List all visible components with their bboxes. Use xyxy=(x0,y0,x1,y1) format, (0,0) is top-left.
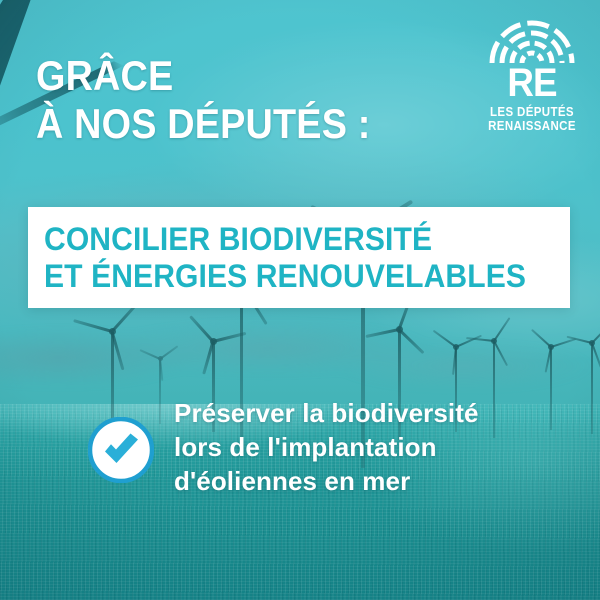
renaissance-arcs-icon xyxy=(486,18,578,64)
poster: GRÂCE À NOS DÉPUTÉS : RE LES DÉPUTÉS REN… xyxy=(0,0,600,600)
banner-title: CONCILIER BIODIVERSITÉ ET ÉNERGIES RENOU… xyxy=(44,221,526,295)
logo-subtitle-line-2: RENAISSANCE xyxy=(484,119,580,133)
headline-banner: CONCILIER BIODIVERSITÉ ET ÉNERGIES RENOU… xyxy=(28,207,570,308)
logo-mark: RE xyxy=(484,66,580,100)
check-circle-icon xyxy=(88,417,154,483)
headline-line-1: GRÂCE xyxy=(36,52,173,99)
bullet-text: Préserver la biodiversité lors de l'impl… xyxy=(174,396,574,498)
banner-line-2: ET ÉNERGIES RENOUVELABLES xyxy=(44,258,526,295)
logo-subtitle-line-1: LES DÉPUTÉS xyxy=(484,105,580,119)
bullet-line-2: lors de l'implantation xyxy=(174,430,574,464)
banner-line-1: CONCILIER BIODIVERSITÉ xyxy=(44,221,432,257)
headline-line-2: À NOS DÉPUTÉS : xyxy=(36,100,414,148)
bullet-line-1: Préserver la biodiversité xyxy=(174,396,574,430)
logo: RE LES DÉPUTÉS RENAISSANCE xyxy=(480,18,584,133)
page-title: GRÂCE À NOS DÉPUTÉS : xyxy=(36,52,414,148)
bullet-line-3: d'éoliennes en mer xyxy=(174,464,574,498)
